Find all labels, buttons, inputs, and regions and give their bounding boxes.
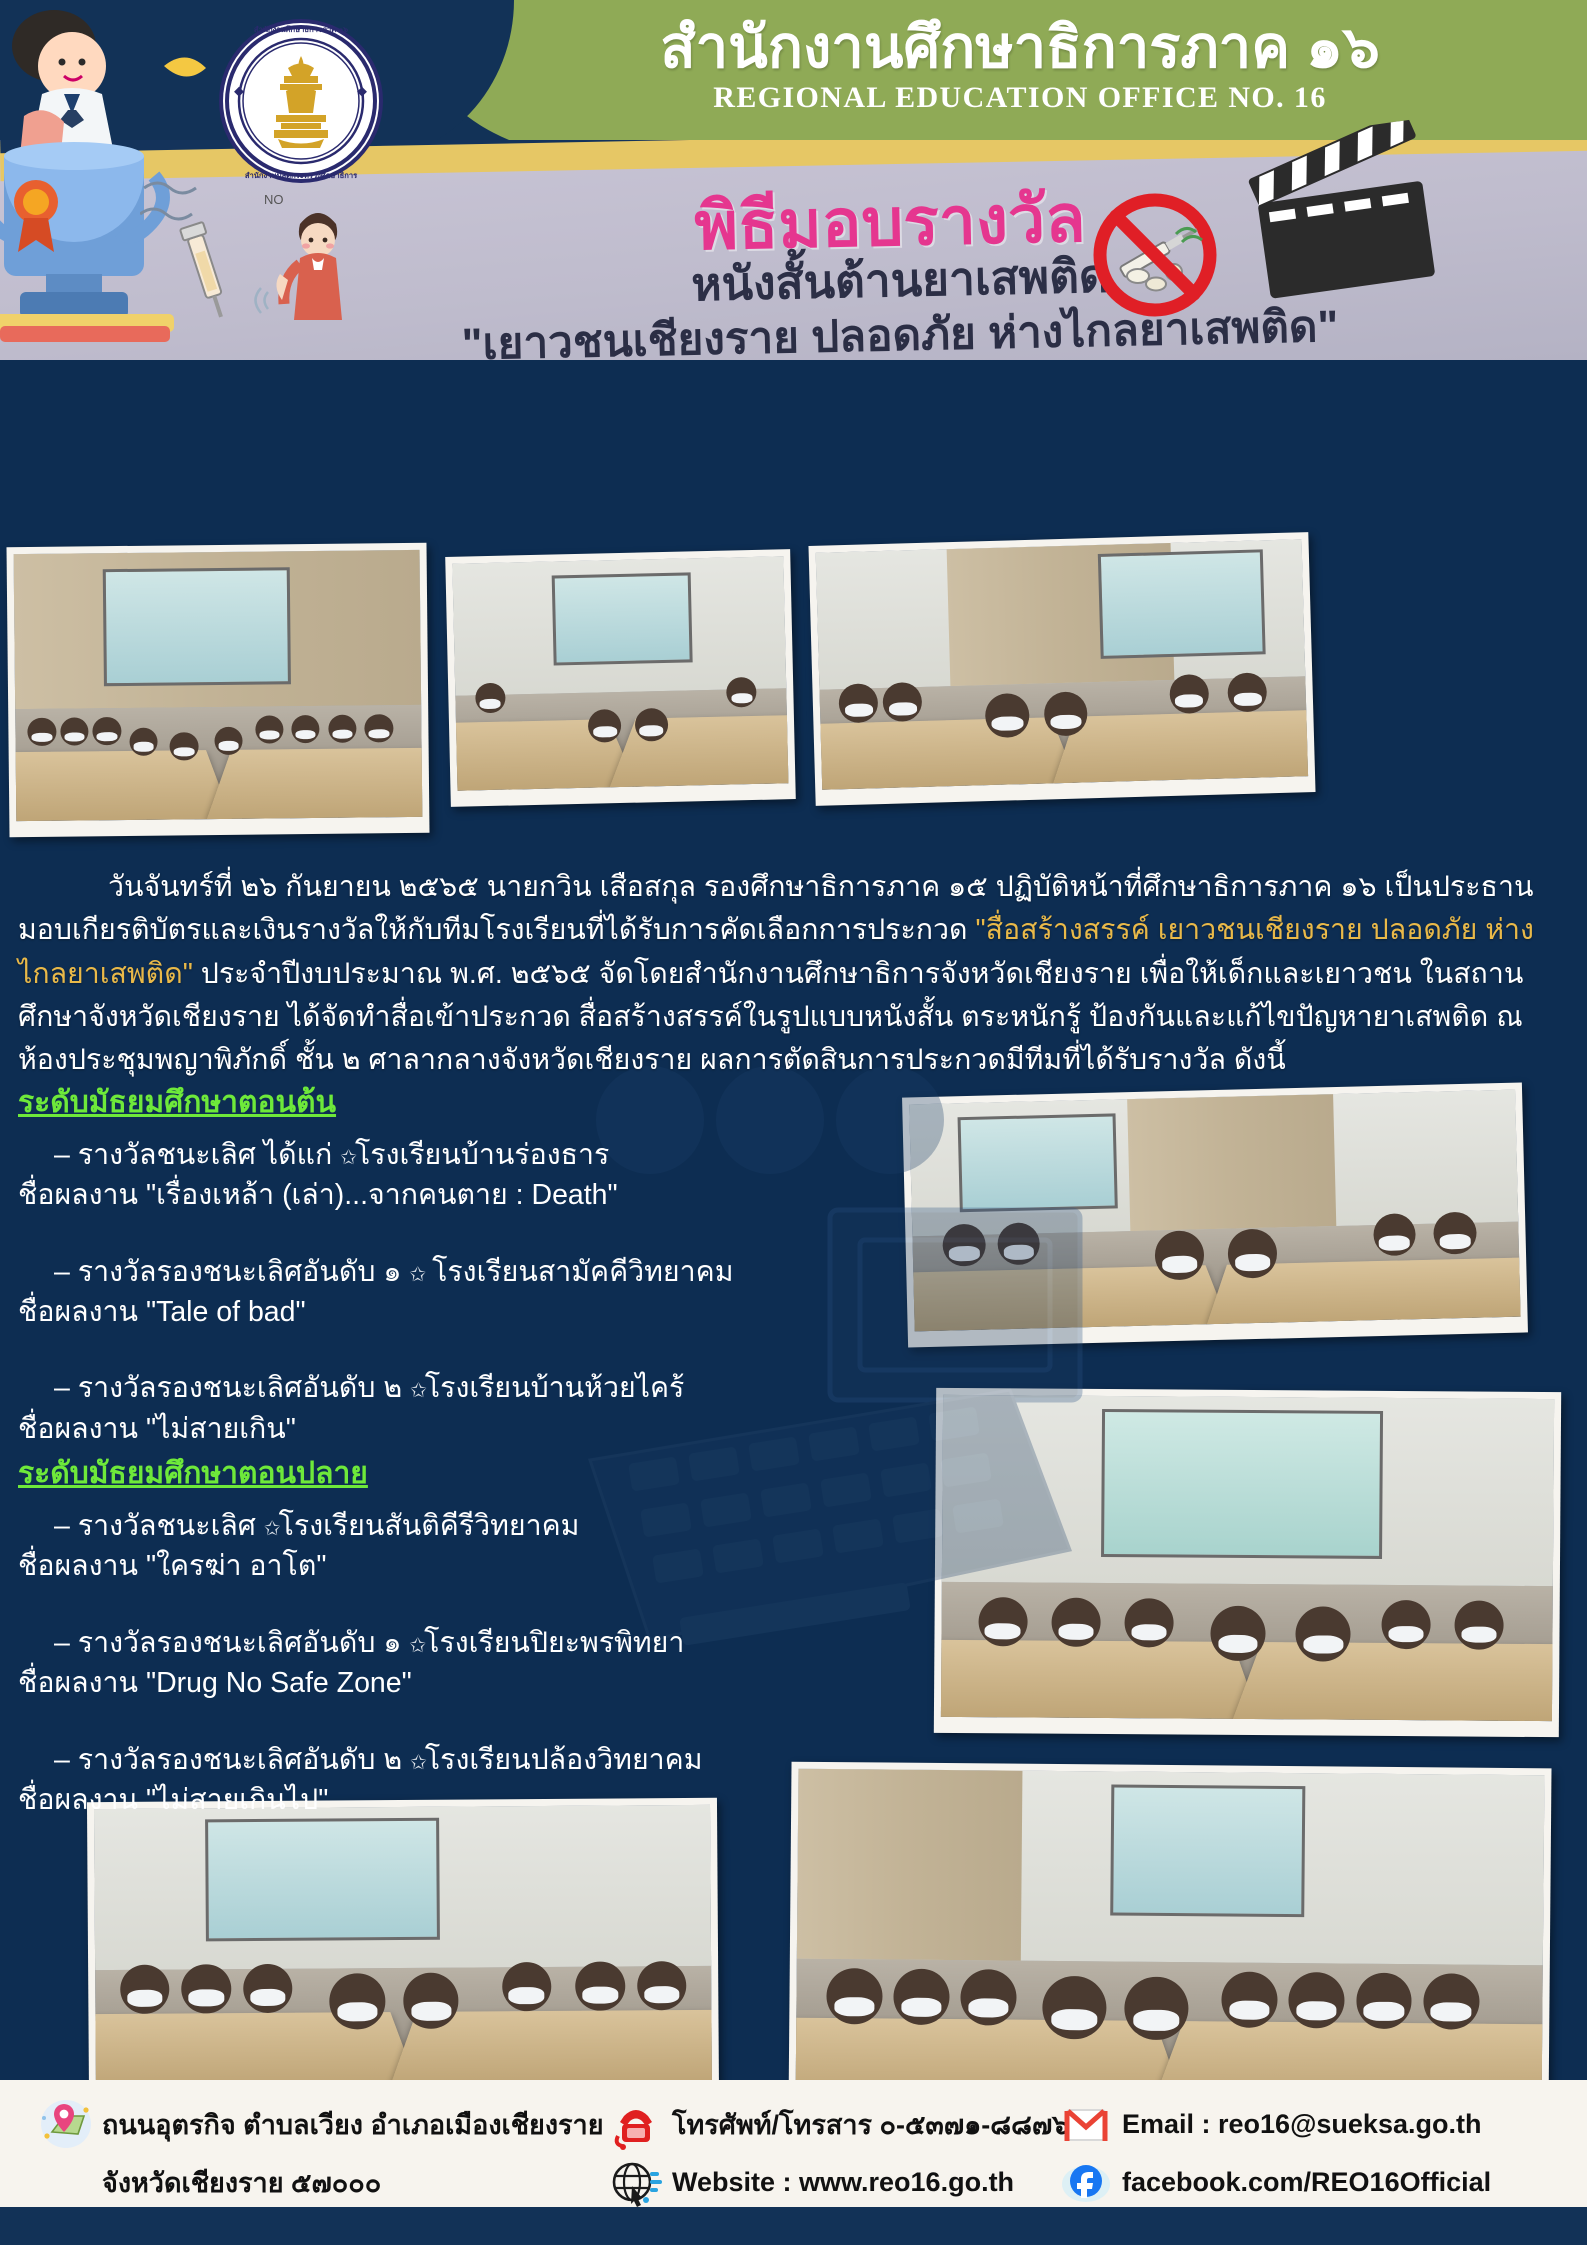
awards-level-1-heading: ระดับมัธยมศึกษาตอนต้น (18, 1082, 336, 1125)
footer-phone-line: โทรศัพท์/โทรสาร ๐-๕๓๗๑-๘๘๗๖ (610, 2098, 1069, 2150)
body-line-3: ประจำปีงบประมาณ พ.ศ. ๒๕๖๕ จัดโดยสำนักงาน… (193, 958, 1412, 990)
poster-footer: ถนนอุตรกิจ ตำบลเวียง อำเภอเมืองเชียงราย … (0, 2080, 1587, 2245)
award-school: โรงเรียนปิยะพรพิทยา (424, 1627, 684, 1659)
award-work-title: "ไม่สายเกินไป" (146, 1784, 328, 1816)
star-icon: ✩ (409, 1264, 424, 1286)
seal-bottom-text: สำนักงานปลัดกระทรวงศึกษาธิการ (245, 171, 358, 180)
star-icon: ✩ (409, 1635, 424, 1657)
award-work-label: ชื่อผลงาน (18, 1296, 138, 1328)
page-title-english: REGIONAL EDUCATION OFFICE NO. 16 (470, 81, 1570, 115)
official-seal-icon: สำนักงานศึกษาธิการภาค ๑๖ สำนักงานปลัดกระ… (218, 18, 384, 184)
award-prize: – รางวัลรองชนะเลิศอันดับ ๒ (54, 1372, 402, 1404)
header-title-group: สำนักงานศึกษาธิการภาค ๑๖ REGIONAL EDUCAT… (470, 18, 1570, 115)
star-icon: ✩ (264, 1518, 279, 1540)
award-school: โรงเรียนสันติคีรีวิทยาคม (279, 1510, 580, 1542)
award-work-label: ชื่อผลงาน (18, 1179, 138, 1211)
award-prize: – รางวัลชนะเลิศ (54, 1510, 256, 1542)
footer-address-col: ถนนอุตรกิจ ตำบลเวียง อำเภอเมืองเชียงราย … (40, 2098, 604, 2208)
body-highlight-1: "สื่อสร้างสรรค์ เยาวชนเชียงราย (975, 914, 1362, 946)
gmail-icon[interactable] (1060, 2098, 1112, 2150)
event-photo-1 (6, 543, 429, 837)
body-line-1: วันจันทร์ที่ ๒๖ กันยายน ๒๕๖๕ นายกวิน เสื… (108, 871, 1377, 903)
event-photo-3 (808, 532, 1315, 806)
award-item: – รางวัลรองชนะเลิศอันดับ ๑ ✩โรงเรียนปิยะ… (18, 1623, 848, 1704)
spacer (18, 1704, 848, 1734)
spacer-icon (40, 2156, 92, 2208)
footer-address-line-2: จังหวัดเชียงราย ๕๗๐๐๐ (40, 2156, 604, 2208)
spacer (18, 1332, 848, 1362)
award-school: โรงเรียนปล้องวิทยาคม (425, 1744, 703, 1776)
award-item: – รางวัลรองชนะเลิศอันดับ ๒ ✩โรงเรียนบ้าน… (18, 1368, 848, 1449)
award-prize: – รางวัลชนะเลิศ ได้แก่ (54, 1139, 332, 1171)
spacer (18, 1587, 848, 1617)
award-work-label: ชื่อผลงาน (18, 1667, 138, 1699)
footer-address-2-text: จังหวัดเชียงราย ๕๗๐๐๐ (102, 2161, 381, 2204)
footer-social-col: Email : reo16@sueksa.go.th facebook.com/… (1060, 2098, 1491, 2208)
globe-icon[interactable] (610, 2156, 662, 2208)
award-work-title: "Drug No Safe Zone" (146, 1667, 412, 1699)
award-item: – รางวัลชนะเลิศ ได้แก่ ✩โรงเรียนบ้านร่อง… (18, 1135, 848, 1216)
footer-phone-text: โทรศัพท์/โทรสาร ๐-๕๓๗๑-๘๘๗๖ (672, 2103, 1069, 2146)
footer-website-line: Website : www.reo16.go.th (610, 2156, 1069, 2208)
telephone-icon (610, 2098, 662, 2150)
award-item: – รางวัลรองชนะเลิศอันดับ ๑ ✩ โรงเรียนสาม… (18, 1252, 848, 1333)
award-work-title: "ไม่สายเกิน" (146, 1413, 296, 1445)
spacer (18, 1216, 848, 1246)
award-school: โรงเรียนบ้านห้วยไคร้ (425, 1372, 685, 1404)
svg-text:NO: NO (264, 192, 284, 207)
awards-list: ระดับมัธยมศึกษาตอนต้น – รางวัลชนะเลิศ ได… (18, 1082, 848, 1821)
event-photo-2 (445, 549, 796, 807)
award-work-title: "เรื่องเหล้า (เล่า)...จากคนตาย : Death" (146, 1179, 618, 1211)
award-work-label: ชื่อผลงาน (18, 1784, 138, 1816)
award-item: – รางวัลชนะเลิศ ✩โรงเรียนสันติคีรีวิทยาค… (18, 1506, 848, 1587)
star-icon: ✩ (410, 1380, 425, 1402)
award-work-label: ชื่อผลงาน (18, 1550, 138, 1582)
seal-top-text: สำนักงานศึกษาธิการภาค ๑๖ (254, 25, 348, 34)
award-prize: – รางวัลรองชนะเลิศอันดับ ๒ (54, 1744, 402, 1776)
page-title-thai: สำนักงานศึกษาธิการภาค ๑๖ (470, 18, 1570, 79)
event-photo-7 (788, 1762, 1551, 2119)
star-icon: ✩ (410, 1752, 425, 1774)
footer-address-line-1: ถนนอุตรกิจ ตำบลเวียง อำเภอเมืองเชียงราย (40, 2098, 604, 2150)
body-paragraph: วันจันทร์ที่ ๒๖ กันยายน ๒๕๖๕ นายกวิน เสื… (18, 866, 1568, 1083)
star-icon: ✩ (340, 1147, 355, 1169)
footer-facebook-line: facebook.com/REO16Official (1060, 2156, 1491, 2208)
award-school: โรงเรียนสามัคคีวิทยาคม (432, 1256, 733, 1288)
award-prize: – รางวัลรองชนะเลิศอันดับ ๑ (54, 1256, 401, 1288)
map-pin-icon (40, 2098, 92, 2150)
footer-email-line: Email : reo16@sueksa.go.th (1060, 2098, 1491, 2150)
event-photo-6 (87, 1798, 719, 2102)
facebook-icon[interactable] (1060, 2156, 1112, 2208)
anti-drug-doodles: NO (140, 180, 470, 360)
award-work-title: "Tale of bad" (146, 1296, 306, 1328)
footer-bottom-strip (0, 2207, 1587, 2245)
article-body: วันจันทร์ที่ ๒๖ กันยายน ๒๕๖๕ นายกวิน เสื… (18, 866, 1568, 1083)
photo-row-top (0, 525, 1587, 855)
award-item: – รางวัลรองชนะเลิศอันดับ ๒ ✩โรงเรียนปล้อ… (18, 1740, 848, 1821)
poster-header: สำนักงานศึกษาธิการภาค ๑๖ สำนักงานปลัดกระ… (0, 0, 1587, 360)
footer-contact-col: โทรศัพท์/โทรสาร ๐-๕๓๗๑-๘๘๗๖ Websit (610, 2098, 1069, 2208)
no-drugs-icon (1090, 190, 1220, 320)
footer-facebook-text[interactable]: facebook.com/REO16Official (1122, 2167, 1491, 2198)
award-work-title: "ใครฆ่า อาโต" (146, 1550, 327, 1582)
award-school: โรงเรียนบ้านร่องธาร (355, 1139, 609, 1171)
footer-website-text[interactable]: Website : www.reo16.go.th (672, 2167, 1014, 2198)
award-prize: – รางวัลรองชนะเลิศอันดับ ๑ (54, 1627, 401, 1659)
footer-email-text[interactable]: Email : reo16@sueksa.go.th (1122, 2109, 1481, 2140)
awards-level-2-heading: ระดับมัธยมศึกษาตอนปลาย (18, 1453, 368, 1496)
footer-address-1-text: ถนนอุตรกิจ ตำบลเวียง อำเภอเมืองเชียงราย (102, 2103, 604, 2146)
award-work-label: ชื่อผลงาน (18, 1413, 138, 1445)
clapperboard-icon (1237, 118, 1449, 313)
